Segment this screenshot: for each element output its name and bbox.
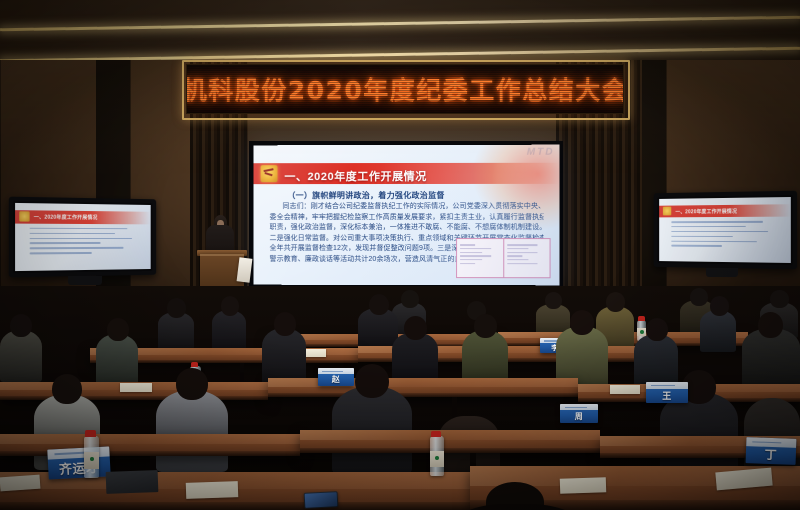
folder: [106, 470, 159, 494]
water-bottle: [430, 436, 444, 476]
name-placard-mid-center: 赵: [318, 368, 354, 386]
party-emblem-icon: [19, 211, 29, 221]
desk-row-4-left: [0, 434, 300, 456]
slide-body-line: 同志们：刚才结合公司纪委监督执纪工作的实际情况，公司党委深入贯彻落实中央、省市纪: [270, 202, 544, 213]
name-placard-front-right: 丁: [746, 437, 797, 465]
ceiling: [0, 0, 800, 62]
right-display-monitor: 一、2020年度工作开展情况: [654, 191, 797, 270]
placard-name: 赵: [332, 374, 341, 385]
water-bottle: [84, 436, 99, 478]
projection-screen: MTD 一、2020年度工作开展情况 （一）旗帜鲜明讲政治，着力强化政治监督 同…: [249, 141, 563, 289]
placard-name: 王: [662, 389, 672, 402]
left-monitor-stand: [68, 276, 102, 285]
right-monitor-title: 一、2020年度工作开展情况: [675, 206, 737, 216]
left-monitor-title: 一、2020年度工作开展情况: [34, 212, 98, 223]
notepad: [120, 383, 152, 392]
notepad: [560, 477, 606, 494]
placard-name: 周: [575, 411, 584, 422]
name-placard-front-left: 齐运才: [47, 446, 110, 479]
slide-header-title: 一、2020年度工作开展情况: [284, 165, 426, 186]
notepad: [0, 475, 40, 492]
smartphone: [304, 491, 339, 509]
party-emblem-icon: [663, 206, 672, 215]
notepad: [610, 385, 640, 394]
audience-area: 李 赵: [0, 286, 800, 510]
led-scanlines: [187, 65, 623, 113]
slide-subtitle: （一）旗帜鲜明讲政治，着力强化政治监督: [287, 190, 444, 201]
left-display-monitor: 一、2020年度工作开展情况: [9, 197, 156, 278]
party-emblem-icon: [261, 165, 278, 182]
desk-row-4-center: [300, 430, 600, 453]
placard-name: 丁: [764, 446, 777, 463]
right-monitor-stand: [706, 268, 738, 277]
ceiling-shading: [0, 0, 800, 62]
name-placard-far-right: 周: [560, 404, 598, 423]
name-placard-mid-left: 王: [646, 382, 688, 403]
notepad: [186, 481, 239, 499]
document-thumbnail: [456, 238, 551, 278]
slide-body-line: 职责，强化政治监督，深化标本兼治，一体推进不敢腐、不能腐、不想腐体制机制建设。: [270, 223, 544, 234]
led-banner: 机科股份2020年度纪委工作总结大会: [186, 64, 624, 114]
conference-hall-photo: 机科股份2020年度纪委工作总结大会 MTD 一、2020年度工作开展情况 （一…: [0, 0, 800, 510]
slide-body-line: 委全会精神，牢牢把握纪检监察工作高质量发展要求，紧扣主责主业，认真履行监督执纪问…: [270, 212, 544, 223]
desk-row-3-right: [268, 378, 578, 397]
